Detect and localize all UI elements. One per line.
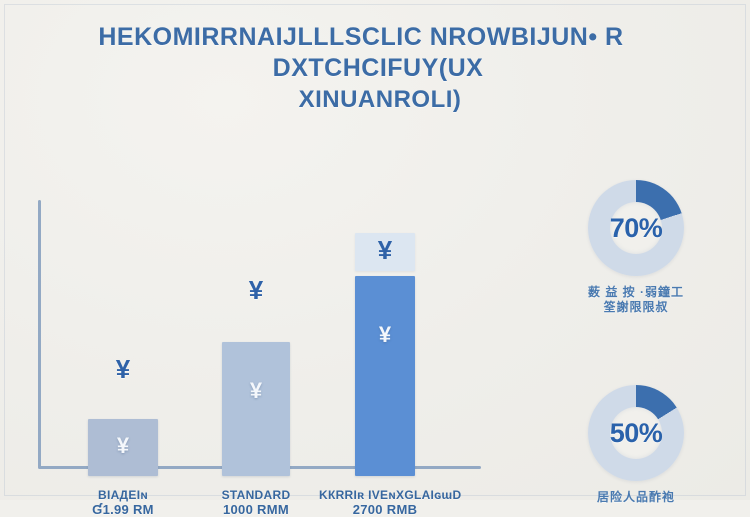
bar-standard[interactable] — [222, 342, 290, 476]
bar-label-basic: BIAДEIɴƓ1.99 RM — [52, 488, 194, 517]
title-line-3: XINUANROLI) — [0, 84, 750, 115]
donut-50-ring: 50% — [588, 385, 684, 481]
donut-50-caption-line1: 居险人品酢袍 — [546, 490, 726, 505]
donut-70-percent: 70% — [588, 180, 684, 276]
bar-chart: ¥¥BIAДEIɴƓ1.99 RM¥¥STANDARD1000 RMM¥¥KКR… — [28, 190, 508, 500]
yen-icon-inside-standard: ¥ — [222, 378, 290, 404]
donut-70-caption: 薮 益 按 ·弱鐘工筌謝限限叔 — [546, 285, 726, 315]
yen-icon-inside-premium: ¥ — [355, 322, 415, 348]
donut-50-percent: 50% — [588, 385, 684, 481]
page-title: HEKOMIRRNAIJLLLSCLIC NROWBIJUN• R DXTCHC… — [0, 22, 750, 115]
donut-50-caption: 居险人品酢袍 — [546, 490, 726, 505]
bar-label-standard: STANDARD1000 RMM — [186, 488, 326, 517]
donut-70[interactable]: 70%薮 益 按 ·弱鐘工筌謝限限叔 — [546, 180, 726, 315]
bar-value-standard: 1000 RMM — [186, 502, 326, 517]
donut-70-caption-line1: 薮 益 按 ·弱鐘工 — [546, 285, 726, 300]
yen-icon-above-basic: ¥ — [88, 354, 158, 385]
bar-group-standard[interactable]: ¥¥STANDARD1000 RMM — [222, 296, 290, 476]
title-line-1: HEKOMIRRNAIJLLLSCLIC NROWBIJUN• R — [0, 22, 750, 52]
bar-group-basic[interactable]: ¥¥BIAДEIɴƓ1.99 RM — [88, 373, 158, 476]
donut-70-ring: 70% — [588, 180, 684, 276]
donut-70-caption-line2: 筌謝限限叔 — [546, 300, 726, 315]
donut-50[interactable]: 50%居险人品酢袍 — [546, 385, 726, 505]
bar-premium[interactable] — [355, 276, 415, 476]
yen-icon-inside-basic: ¥ — [88, 433, 158, 459]
bar-value-premium: 2700 RMB — [319, 502, 451, 517]
yen-icon-cap-premium: ¥ — [355, 235, 415, 266]
bar-label-premium: KКRRIʀ IVEɴXGLAIɢɯD2700 RMB — [319, 488, 451, 517]
bar-group-premium[interactable]: ¥¥KКRRIʀ IVEɴXGLAIɢɯD2700 RMB — [355, 192, 415, 476]
infographic-poster: HEKOMIRRNAIJLLLSCLIC NROWBIJUN• R DXTCHC… — [0, 0, 750, 500]
yen-icon-above-standard: ¥ — [222, 275, 290, 306]
bar-value-basic: Ɠ1.99 RM — [52, 502, 194, 517]
y-axis-line — [38, 200, 41, 468]
title-line-2: DXTCHCIFUY(UX — [0, 52, 750, 84]
